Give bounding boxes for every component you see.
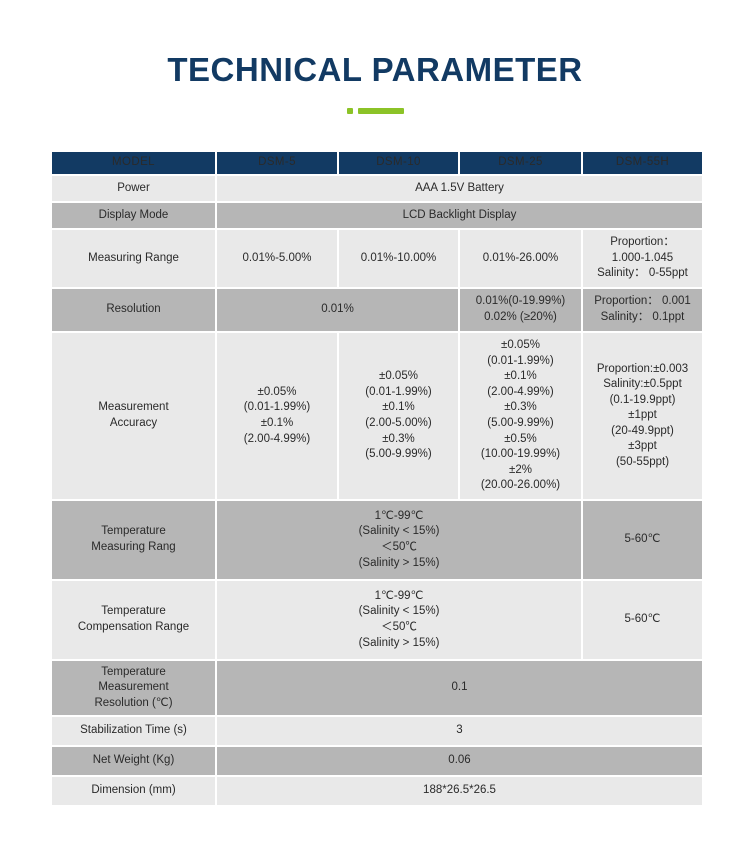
row-value-accuracy-dsm-10: ±0.05% (0.01-1.99%) ±0.1% (2.00-5.00%) ±… — [339, 333, 458, 499]
table-row: Temperature Compensation Range 1℃-99℃ (S… — [52, 581, 702, 659]
divider-bar-icon — [358, 108, 404, 114]
row-value-measuring-range-dsm-5: 0.01%-5.00% — [217, 230, 337, 287]
row-label-temperature-compensation-range: Temperature Compensation Range — [52, 581, 215, 659]
specification-table: MODEL DSM-5 DSM-10 DSM-25 DSM-55H Power … — [50, 150, 704, 807]
table-row: Resolution 0.01% 0.01%(0-19.99%) 0.02% (… — [52, 289, 702, 331]
row-value-temp-compensation-main: 1℃-99℃ (Salinity < 15%) ＜50℃ (Salinity >… — [217, 581, 581, 659]
table-row: Temperature Measurement Resolution (℃) 0… — [52, 661, 702, 715]
table-header: MODEL DSM-5 DSM-10 DSM-25 DSM-55H — [52, 152, 702, 174]
column-header-dsm-25: DSM-25 — [460, 152, 581, 174]
row-value-power: AAA 1.5V Battery — [217, 176, 702, 201]
column-header-dsm-55h: DSM-55H — [583, 152, 702, 174]
table-row: Power AAA 1.5V Battery — [52, 176, 702, 201]
title-divider — [0, 108, 750, 114]
table-header-row: MODEL DSM-5 DSM-10 DSM-25 DSM-55H — [52, 152, 702, 174]
table-row: Stabilization Time (s) 3 — [52, 717, 702, 745]
row-label-temperature-measurement-resolution: Temperature Measurement Resolution (℃) — [52, 661, 215, 715]
row-value-measuring-range-dsm-10: 0.01%-10.00% — [339, 230, 458, 287]
row-label-display-mode: Display Mode — [52, 203, 215, 228]
page-title: TECHNICAL PARAMETER — [0, 52, 750, 88]
table-row: Measurement Accuracy ±0.05% (0.01-1.99%)… — [52, 333, 702, 499]
row-value-temp-compensation-dsm-55h: 5-60℃ — [583, 581, 702, 659]
spec-table-wrapper: MODEL DSM-5 DSM-10 DSM-25 DSM-55H Power … — [50, 150, 700, 807]
row-value-temp-measuring-rang-main: 1℃-99℃ (Salinity < 15%) ＜50℃ (Salinity >… — [217, 501, 581, 579]
table-row: Temperature Measuring Rang 1℃-99℃ (Salin… — [52, 501, 702, 579]
table-row: Display Mode LCD Backlight Display — [52, 203, 702, 228]
row-label-dimension: Dimension (mm) — [52, 777, 215, 805]
row-value-display-mode: LCD Backlight Display — [217, 203, 702, 228]
divider-dot-icon — [347, 108, 353, 114]
row-label-resolution: Resolution — [52, 289, 215, 331]
row-label-measuring-range: Measuring Range — [52, 230, 215, 287]
row-label-temperature-measuring-rang: Temperature Measuring Rang — [52, 501, 215, 579]
technical-parameter-page: TECHNICAL PARAMETER MODEL DSM-5 DSM-10 D… — [0, 0, 750, 852]
row-label-net-weight: Net Weight (Kg) — [52, 747, 215, 775]
row-label-stabilization-time: Stabilization Time (s) — [52, 717, 215, 745]
table-row: Measuring Range 0.01%-5.00% 0.01%-10.00%… — [52, 230, 702, 287]
table-body: Power AAA 1.5V Battery Display Mode LCD … — [52, 176, 702, 805]
row-value-resolution-dsm-55h: Proportion： 0.001 Salinity： 0.1ppt — [583, 289, 702, 331]
row-value-temperature-measurement-resolution: 0.1 — [217, 661, 702, 715]
title-block: TECHNICAL PARAMETER — [0, 0, 750, 114]
table-row: Dimension (mm) 188*26.5*26.5 — [52, 777, 702, 805]
column-header-dsm-5: DSM-5 — [217, 152, 337, 174]
row-value-stabilization-time: 3 — [217, 717, 702, 745]
row-value-dimension: 188*26.5*26.5 — [217, 777, 702, 805]
row-value-resolution-dsm-5-10: 0.01% — [217, 289, 458, 331]
row-label-measurement-accuracy: Measurement Accuracy — [52, 333, 215, 499]
row-value-resolution-dsm-25: 0.01%(0-19.99%) 0.02% (≥20%) — [460, 289, 581, 331]
row-value-net-weight: 0.06 — [217, 747, 702, 775]
row-value-temp-measuring-rang-dsm-55h: 5-60℃ — [583, 501, 702, 579]
row-value-accuracy-dsm-55h: Proportion:±0.003 Salinity:±0.5ppt (0.1-… — [583, 333, 702, 499]
column-header-dsm-10: DSM-10 — [339, 152, 458, 174]
row-value-accuracy-dsm-25: ±0.05% (0.01-1.99%) ±0.1% (2.00-4.99%) ±… — [460, 333, 581, 499]
column-header-model: MODEL — [52, 152, 215, 174]
row-value-measuring-range-dsm-55h: Proportion： 1.000-1.045 Salinity： 0-55pp… — [583, 230, 702, 287]
row-value-accuracy-dsm-5: ±0.05% (0.01-1.99%) ±0.1% (2.00-4.99%) — [217, 333, 337, 499]
table-row: Net Weight (Kg) 0.06 — [52, 747, 702, 775]
row-value-measuring-range-dsm-25: 0.01%-26.00% — [460, 230, 581, 287]
row-label-power: Power — [52, 176, 215, 201]
